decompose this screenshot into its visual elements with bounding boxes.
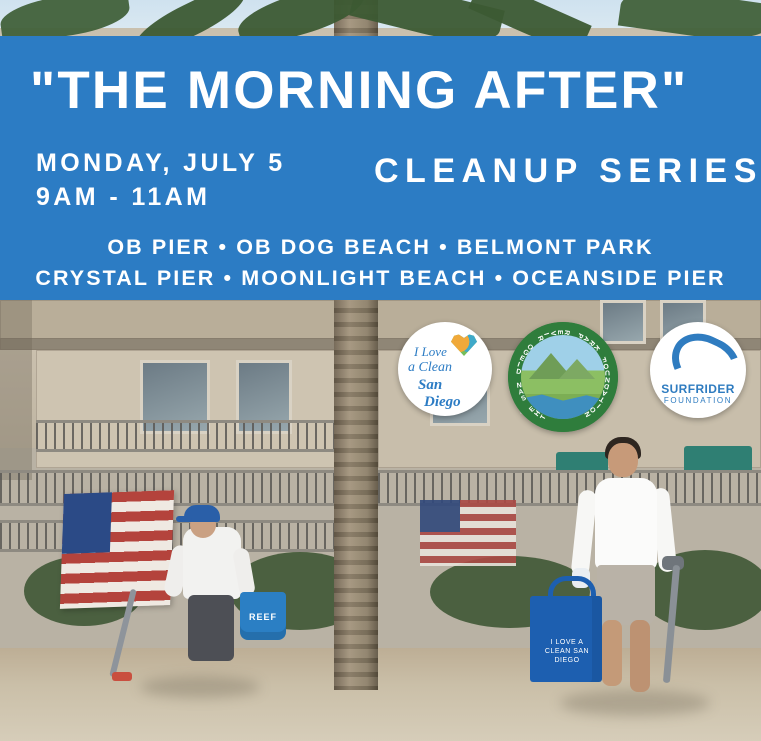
american-flag — [60, 490, 174, 609]
volunteer-right-leg — [602, 620, 622, 686]
flag-canton — [62, 492, 112, 554]
awning — [556, 452, 608, 472]
poster-image: REEF I LOVE A CLEAN SAN DIEGO "THE MORNI… — [0, 0, 761, 741]
ring-text-char: N — [516, 382, 522, 390]
logo-san-diego-river-park-foundation: THE SAN DIEGO RIVER PARK FOUNDATION — [508, 322, 618, 432]
volunteer-left-cap-brim — [176, 516, 192, 522]
ground-shadow — [560, 690, 710, 716]
locations-line-1: OB PIER • OB DOG BEACH • BELMONT PARK — [0, 232, 761, 263]
logo-line-2: FOUNDATION — [650, 396, 746, 405]
bucket-label: REEF — [249, 612, 277, 622]
headline: "THE MORNING AFTER" — [30, 60, 688, 121]
date-time-block: MONDAY, JULY 5 9AM - 11AM — [36, 146, 286, 214]
volunteer-right-leg — [630, 620, 650, 692]
ring-text-char: K — [592, 343, 600, 352]
info-banner: "THE MORNING AFTER" MONDAY, JULY 5 9AM -… — [0, 36, 761, 300]
reef-bucket: REEF — [240, 592, 286, 640]
volunteer-left-legs — [188, 595, 234, 661]
logo-i-love-a-clean-san-diego: I Love a Clean San Diego — [398, 322, 492, 416]
locations-line-2: CRYSTAL PIER • MOONLIGHT BEACH • OCEANSI… — [0, 263, 761, 294]
building-shadow — [0, 300, 32, 480]
american-flag-secondary — [420, 500, 516, 566]
volunteer-right-shorts — [597, 565, 655, 625]
logo-surfrider-foundation: SURFRIDER FOUNDATION — [650, 322, 746, 418]
event-time: 9AM - 11AM — [36, 180, 286, 214]
subheadline: CLEANUP SERIES — [374, 152, 761, 191]
ring-text-char: R — [562, 329, 570, 335]
building-trim — [0, 338, 761, 350]
ring-text-char: A — [518, 388, 525, 396]
volunteer-right-torso — [595, 478, 657, 570]
trash-grabber-tip — [112, 672, 132, 681]
ring-text-char: I — [516, 361, 520, 368]
rainbow-heart-icon — [451, 334, 477, 356]
logo-line-1: SURFRIDER — [650, 382, 746, 396]
ground-shadow — [140, 676, 260, 698]
locations-block: OB PIER • OB DOG BEACH • BELMONT PARK CR… — [0, 232, 761, 294]
ring-text-char: D — [516, 368, 523, 376]
awning — [684, 446, 752, 472]
building-band — [0, 300, 761, 340]
logo-line-2: a Clean — [408, 360, 452, 376]
balcony-railing — [36, 420, 336, 452]
event-date: MONDAY, JULY 5 — [36, 146, 286, 180]
volunteer-right-head — [608, 443, 638, 477]
logo-line-4: Diego — [424, 394, 461, 411]
tote-bag-label: I LOVE A CLEAN SAN DIEGO — [541, 638, 593, 665]
logo-line-1: I Love — [414, 344, 447, 360]
logo-ring-text: THE SAN DIEGO RIVER PARK FOUNDATION — [508, 322, 618, 432]
flag-canton — [420, 500, 460, 532]
logo-line-3: San — [418, 377, 442, 394]
volunteer-left-torso — [183, 527, 241, 599]
